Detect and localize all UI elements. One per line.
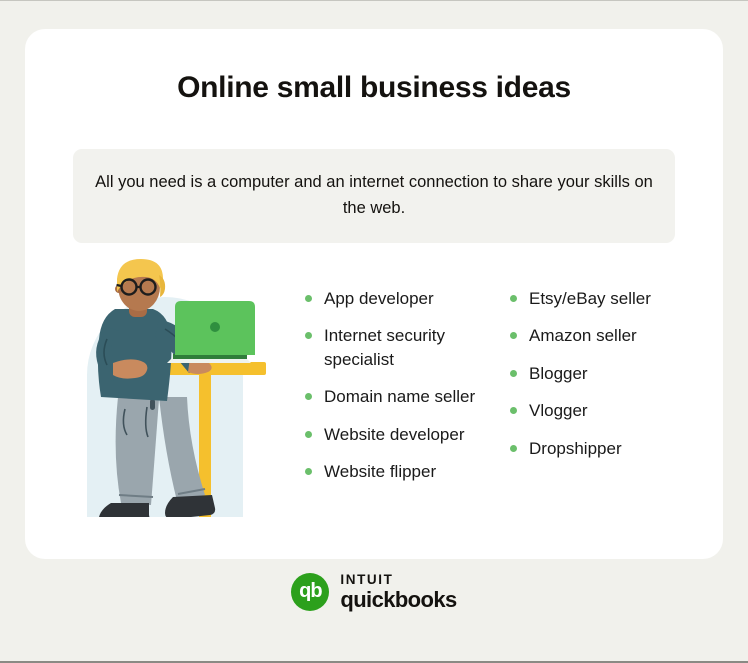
page-title: Online small business ideas [25,71,723,105]
content-card: Online small business ideas All you need… [25,29,723,559]
subtitle-panel: All you need is a computer and an intern… [73,149,675,243]
list-item-label: Vlogger [529,399,588,422]
logo-wordmark: INTUIT quickbooks [340,573,456,610]
list-item-label: Blogger [529,362,588,385]
list-item-label: Amazon seller [529,324,637,347]
logo-quickbooks-text: quickbooks [340,588,456,611]
list-item-label: Website flipper [324,460,436,483]
list-item: Blogger [510,362,710,385]
list-item: Internet security specialist [305,324,510,371]
ideas-list-left-column: App developer Internet security speciali… [305,287,510,498]
list-item: Website developer [305,423,510,446]
list-item: App developer [305,287,510,310]
bullet-icon [305,332,312,339]
subtitle-text: All you need is a computer and an intern… [73,170,675,221]
bullet-icon [510,445,517,452]
list-item-label: Internet security specialist [324,324,510,371]
list-item: Dropshipper [510,437,710,460]
list-item: Etsy/eBay seller [510,287,710,310]
list-item-label: Dropshipper [529,437,622,460]
bullet-icon [305,393,312,400]
bullet-icon [510,370,517,377]
logo-intuit-text: INTUIT [340,573,456,587]
quickbooks-logo: qb INTUIT quickbooks [0,573,748,611]
list-item: Domain name seller [305,385,510,408]
bullet-icon [305,468,312,475]
list-item-label: App developer [324,287,434,310]
list-item-label: Etsy/eBay seller [529,287,651,310]
page-background: Online small business ideas All you need… [0,0,748,663]
bullet-icon [510,407,517,414]
list-item-label: Domain name seller [324,385,475,408]
list-item: Vlogger [510,399,710,422]
list-item: Website flipper [305,460,510,483]
quickbooks-mark-icon: qb [291,573,329,611]
person-standing-desk-laptop-illustration [55,257,280,517]
list-item-label: Website developer [324,423,465,446]
bullet-icon [305,431,312,438]
ideas-list-right-column: Etsy/eBay seller Amazon seller Blogger V… [510,287,710,474]
bullet-icon [305,295,312,302]
bullet-icon [510,332,517,339]
list-item: Amazon seller [510,324,710,347]
bullet-icon [510,295,517,302]
